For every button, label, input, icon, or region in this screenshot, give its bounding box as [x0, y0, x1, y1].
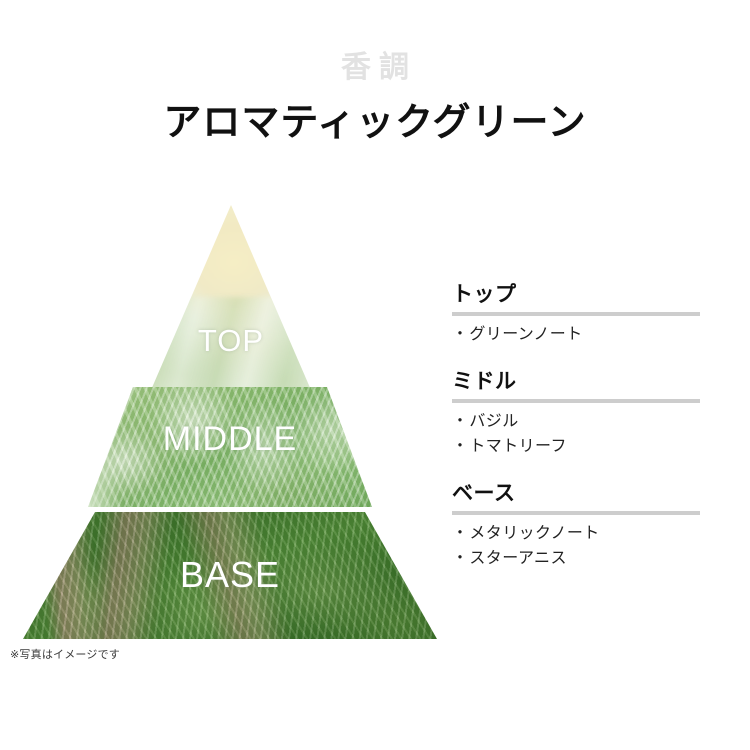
note-item: ・バジル [452, 409, 702, 434]
scent-pyramid-graphic: TOP MIDDLE BASE [0, 190, 460, 660]
notes-list: トップ ・グリーンノート ミドル ・バジル ・トマトリーフ ベース ・メタリック… [452, 282, 702, 571]
middle-slice-label: MIDDLE [88, 420, 372, 459]
note-item: ・スターアニス [452, 546, 702, 571]
note-item: ・メタリックノート [452, 521, 702, 546]
note-item: ・グリーンノート [452, 322, 702, 347]
pyramid-slice-base: BASE [23, 512, 437, 639]
note-item-label: バジル [469, 413, 518, 430]
note-item-label: グリーンノート [469, 326, 582, 343]
note-item-label: メタリックノート [469, 525, 599, 542]
fragrance-pyramid-page: 香調 アロマティックグリーン TOP MIDDLE BASE ※写真はイメージで… [0, 0, 750, 750]
base-slice-label: BASE [23, 554, 437, 596]
note-rule-middle [452, 399, 700, 403]
note-rule-base [452, 511, 700, 515]
note-title-top: トップ [452, 282, 702, 308]
top-slice-label: TOP [148, 323, 314, 359]
bullet-icon: ・ [452, 326, 468, 343]
note-title-base: ベース [452, 481, 702, 507]
pyramid-slice-top: TOP [148, 205, 314, 397]
photo-disclaimer: ※写真はイメージです [10, 646, 120, 662]
bullet-icon: ・ [452, 413, 468, 430]
bullet-icon: ・ [452, 525, 468, 542]
pyramid-slice-middle: MIDDLE [88, 387, 372, 507]
bullet-icon: ・ [452, 550, 468, 567]
page-title: アロマティックグリーン [0, 98, 750, 148]
bullet-icon: ・ [452, 438, 468, 455]
note-item-label: トマトリーフ [469, 438, 566, 455]
note-item-label: スターアニス [469, 550, 566, 567]
section-kicker: 香調 [0, 48, 750, 88]
note-block-top: トップ ・グリーンノート [452, 282, 702, 347]
note-block-middle: ミドル ・バジル ・トマトリーフ [452, 369, 702, 459]
note-block-base: ベース ・メタリックノート ・スターアニス [452, 481, 702, 571]
note-title-middle: ミドル [452, 369, 702, 395]
note-rule-top [452, 312, 700, 316]
note-item: ・トマトリーフ [452, 434, 702, 459]
